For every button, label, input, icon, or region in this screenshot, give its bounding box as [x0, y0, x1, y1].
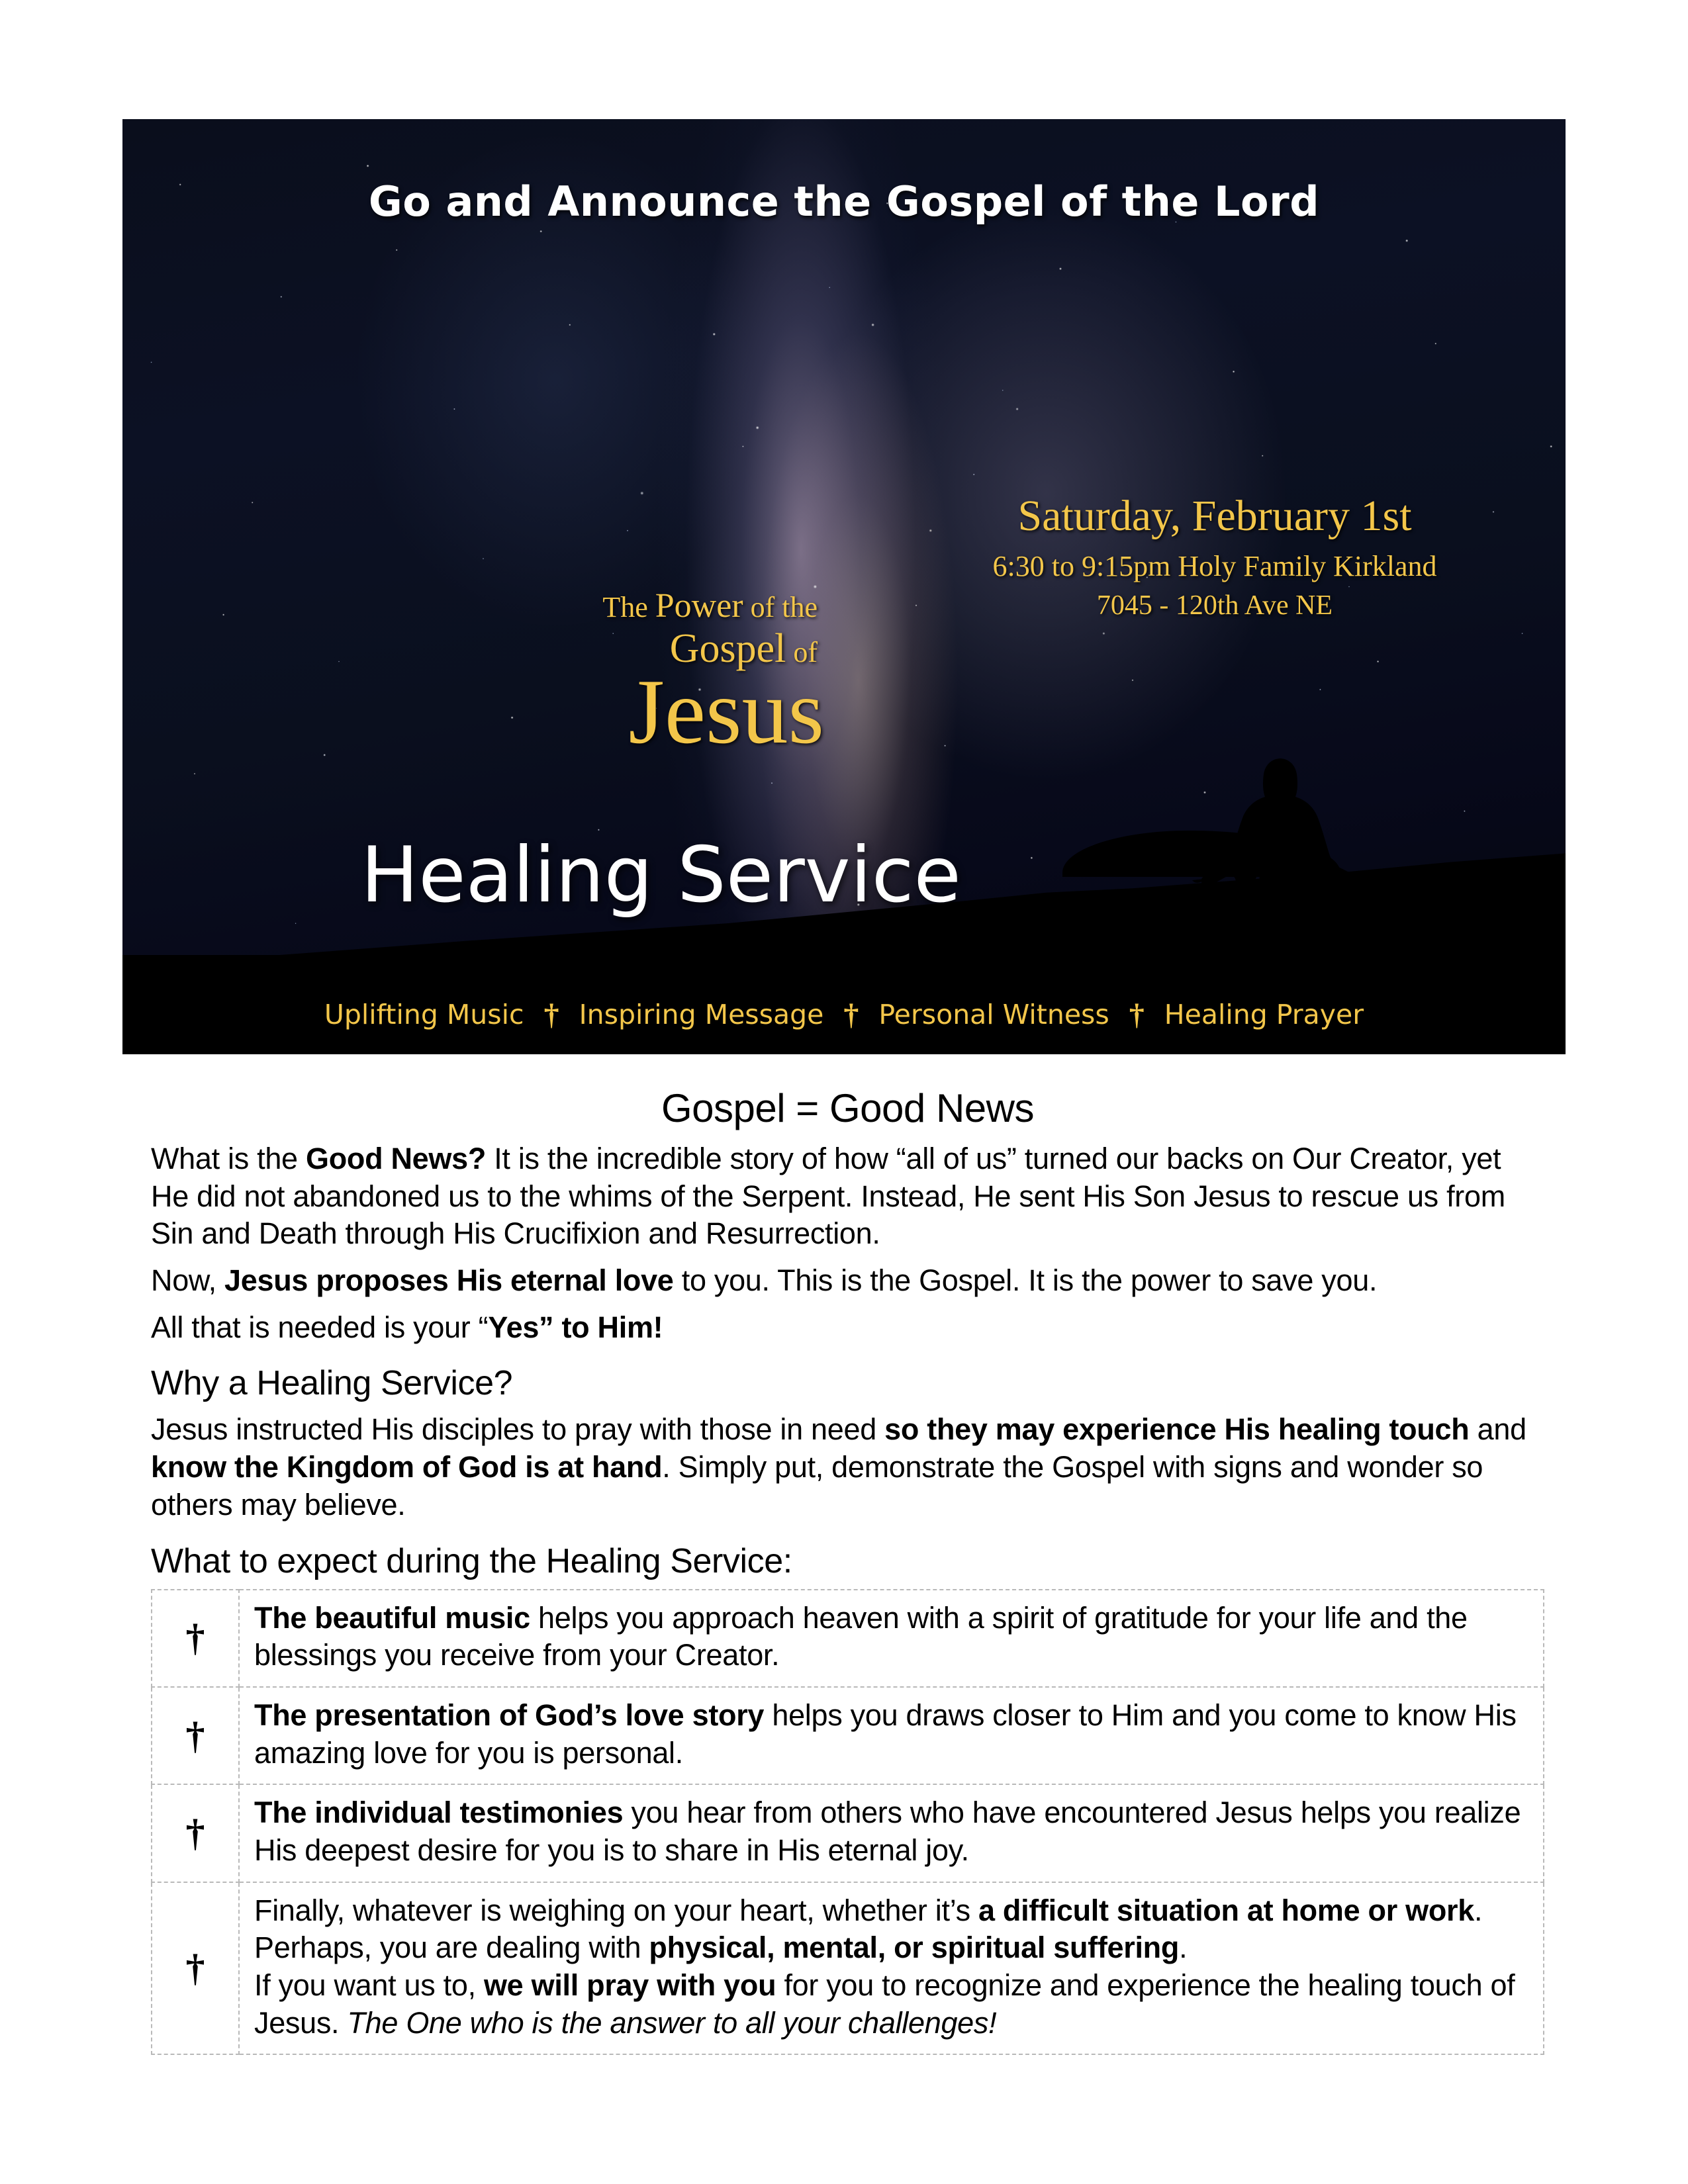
text-segment: we will pray with you — [484, 1968, 776, 2002]
text-segment: a difficult situation at home or work — [978, 1893, 1474, 1927]
power-line-1: The Power of the — [407, 589, 818, 623]
table-row: †The beautiful music helps you approach … — [152, 1590, 1544, 1687]
features-list: Uplifting Music † Inspiring Message † Pe… — [122, 999, 1566, 1030]
text-segment: physical, mental, or spiritual suffering — [649, 1931, 1179, 1964]
table-row: †The individual testimonies you hear fro… — [152, 1784, 1544, 1882]
document-body: Gospel = Good News What is the Good News… — [151, 1085, 1544, 2055]
cross-separator-icon-2: † — [1129, 999, 1145, 1030]
event-date: Saturday, February 1st — [904, 493, 1526, 539]
expect-row-text: The beautiful music helps you approach h… — [239, 1590, 1544, 1687]
text-segment: Finally, whatever is weighing on your he… — [254, 1893, 978, 1927]
cross-separator-icon-1: † — [843, 999, 859, 1030]
text-segment: If you want us to, — [254, 1968, 484, 2002]
expect-row-text: The individual testimonies you hear from… — [239, 1784, 1544, 1882]
page-title: Gospel = Good News — [151, 1085, 1544, 1131]
what-to-expect-table: †The beautiful music helps you approach … — [151, 1589, 1544, 2056]
feature-item-0: Uplifting Music — [324, 999, 524, 1030]
event-address: 7045 - 120th Ave NE — [904, 590, 1526, 621]
feature-item-2: Personal Witness — [878, 999, 1109, 1030]
cross-bullet-icon: † — [152, 1687, 239, 1784]
table-row: †The presentation of God’s love story he… — [152, 1687, 1544, 1784]
flyer-banner-image: Go and Announce the Gospel of the Lord S… — [122, 119, 1566, 1054]
cross-separator-icon-0: † — [544, 999, 559, 1030]
cross-bullet-icon: † — [152, 1590, 239, 1687]
feature-item-3: Healing Prayer — [1164, 999, 1364, 1030]
text-segment: . — [1179, 1931, 1187, 1964]
power-of-the-gospel-block: The Power of the Gospel of Jesus — [407, 589, 818, 756]
flyer-main-title: Healing Service — [361, 831, 961, 920]
cross-bullet-icon: † — [152, 1784, 239, 1882]
text-segment: The presentation of God’s love story — [254, 1698, 764, 1732]
heading-what-to-expect: What to expect during the Healing Servic… — [151, 1541, 1544, 1581]
paragraph-why-healing-service: Jesus instructed His disciples to pray w… — [151, 1411, 1544, 1524]
power-line-3-jesus: Jesus — [407, 668, 824, 756]
expect-row-text: The presentation of God’s love story hel… — [239, 1687, 1544, 1784]
feature-item-1: Inspiring Message — [579, 999, 824, 1030]
paragraph-good-news: What is the Good News? It is the incredi… — [151, 1140, 1544, 1253]
text-segment: The beautiful music — [254, 1601, 530, 1635]
paragraph-yes-to-him: All that is needed is your “Yes” to Him! — [151, 1309, 1544, 1347]
event-time-venue: 6:30 to 9:15pm Holy Family Kirkland — [904, 549, 1526, 583]
expect-row-text: Finally, whatever is weighing on your he… — [239, 1882, 1544, 2055]
flyer-top-title: Go and Announce the Gospel of the Lord — [122, 177, 1566, 226]
table-row: †Finally, whatever is weighing on your h… — [152, 1882, 1544, 2055]
text-segment: The One who is the answer to all your ch… — [347, 2006, 996, 2040]
event-details-block: Saturday, February 1st 6:30 to 9:15pm Ho… — [904, 493, 1526, 621]
paragraph-eternal-love: Now, Jesus proposes His eternal love to … — [151, 1262, 1544, 1300]
text-segment: The individual testimonies — [254, 1796, 623, 1829]
table-body: †The beautiful music helps you approach … — [152, 1590, 1544, 2055]
heading-why-healing-service: Why a Healing Service? — [151, 1363, 1544, 1403]
cross-bullet-icon: † — [152, 1882, 239, 2055]
